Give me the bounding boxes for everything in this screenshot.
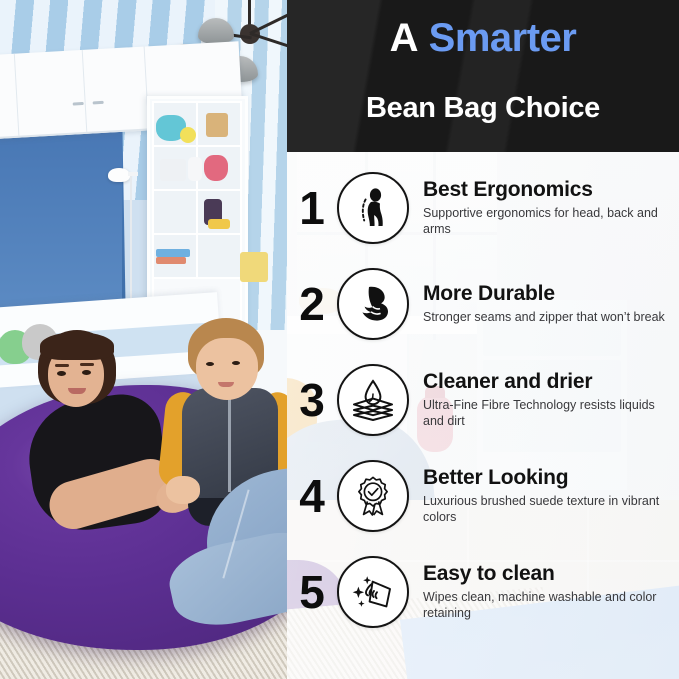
feature-row: 3 Cleaner and drier Ultra-Fine Fibre Tec… bbox=[287, 352, 679, 448]
feature-description: Wipes clean, machine washable and color … bbox=[423, 589, 673, 622]
feature-description: Supportive ergonomics for head, back and… bbox=[423, 205, 673, 238]
feature-description: Luxurious brushed suede texture in vibra… bbox=[423, 493, 673, 526]
feature-row: 2 More Durable Stronger seams and zipper… bbox=[287, 256, 679, 352]
hand-wiping-sparkle-icon bbox=[337, 556, 409, 628]
cabinet-knob bbox=[93, 101, 104, 105]
header-banner: A Smarter Bean Bag Choice bbox=[287, 0, 679, 152]
headline-word-smarter: Smarter bbox=[429, 16, 577, 60]
toy-bottle bbox=[188, 157, 202, 181]
feature-list: 1 Best Ergonomics Supportive ergonomics … bbox=[287, 160, 679, 640]
toy-book bbox=[156, 249, 190, 257]
feature-row: 5 bbox=[287, 544, 679, 640]
feature-title: Best Ergonomics bbox=[423, 178, 675, 202]
feature-text: Cleaner and drier Ultra-Fine Fibre Techn… bbox=[409, 370, 679, 430]
posture-person-icon bbox=[337, 172, 409, 244]
headline-secondary: Bean Bag Choice bbox=[287, 94, 679, 123]
blue-accent-wall-lower bbox=[0, 126, 122, 326]
feature-row: 4 Better Looking Luxurious bru bbox=[287, 448, 679, 544]
feature-text: Best Ergonomics Supportive ergonomics fo… bbox=[409, 178, 679, 238]
feature-text: Better Looking Luxurious brushed suede t… bbox=[409, 466, 679, 526]
product-lifestyle-photo bbox=[0, 0, 287, 679]
feature-number: 5 bbox=[287, 569, 337, 615]
toy-picture-frame bbox=[206, 113, 228, 137]
headline-primary: A Smarter bbox=[287, 18, 679, 58]
woman-eyebrow bbox=[80, 363, 94, 366]
headline-word-a: A bbox=[390, 16, 418, 60]
feature-title: More Durable bbox=[423, 282, 675, 306]
cabinet-knob bbox=[73, 102, 84, 106]
feature-title: Easy to clean bbox=[423, 562, 675, 586]
award-ribbon-check-icon bbox=[337, 460, 409, 532]
feature-description: Stronger seams and zipper that won’t bre… bbox=[423, 309, 673, 326]
child-hand bbox=[166, 476, 200, 504]
child-face bbox=[196, 338, 258, 400]
child-mouth bbox=[218, 382, 234, 387]
child-vest-zipper bbox=[228, 392, 231, 492]
feature-panel: A Smarter Bean Bag Choice 1 Best Ergonom… bbox=[287, 0, 679, 679]
toy-book bbox=[156, 257, 186, 264]
feature-description: Ultra-Fine Fibre Technology resists liqu… bbox=[423, 397, 673, 430]
shelf-cell bbox=[152, 189, 200, 237]
infographic-canvas: A Smarter Bean Bag Choice 1 Best Ergonom… bbox=[0, 0, 679, 679]
toy-bear bbox=[204, 155, 228, 181]
feature-text: Easy to clean Wipes clean, machine washa… bbox=[409, 562, 679, 622]
feature-number: 2 bbox=[287, 281, 337, 327]
feature-number: 4 bbox=[287, 473, 337, 519]
toy-ball bbox=[180, 127, 196, 143]
flexed-bicep-icon bbox=[337, 268, 409, 340]
woman-eyebrow bbox=[55, 364, 69, 367]
pendant-lamp-rod bbox=[248, 0, 251, 26]
feature-title: Better Looking bbox=[423, 466, 675, 490]
woman-eye bbox=[82, 370, 91, 375]
wall-sconce-cord bbox=[130, 176, 132, 306]
feature-text: More Durable Stronger seams and zipper t… bbox=[409, 282, 679, 325]
shelf-cell bbox=[196, 233, 242, 281]
toy-abacus bbox=[240, 252, 268, 282]
feature-row: 1 Best Ergonomics Supportive ergonomics … bbox=[287, 160, 679, 256]
feature-number: 1 bbox=[287, 185, 337, 231]
child-eye bbox=[232, 361, 240, 365]
toy-car bbox=[208, 219, 230, 229]
feature-number: 3 bbox=[287, 377, 337, 423]
child-eye bbox=[206, 362, 214, 366]
wall-sconce-lamp bbox=[108, 168, 130, 182]
water-drop-layers-icon bbox=[337, 364, 409, 436]
woman-eye bbox=[57, 371, 66, 376]
feature-title: Cleaner and drier bbox=[423, 370, 675, 394]
woman-fringe bbox=[40, 332, 114, 360]
toy-box bbox=[160, 159, 186, 181]
